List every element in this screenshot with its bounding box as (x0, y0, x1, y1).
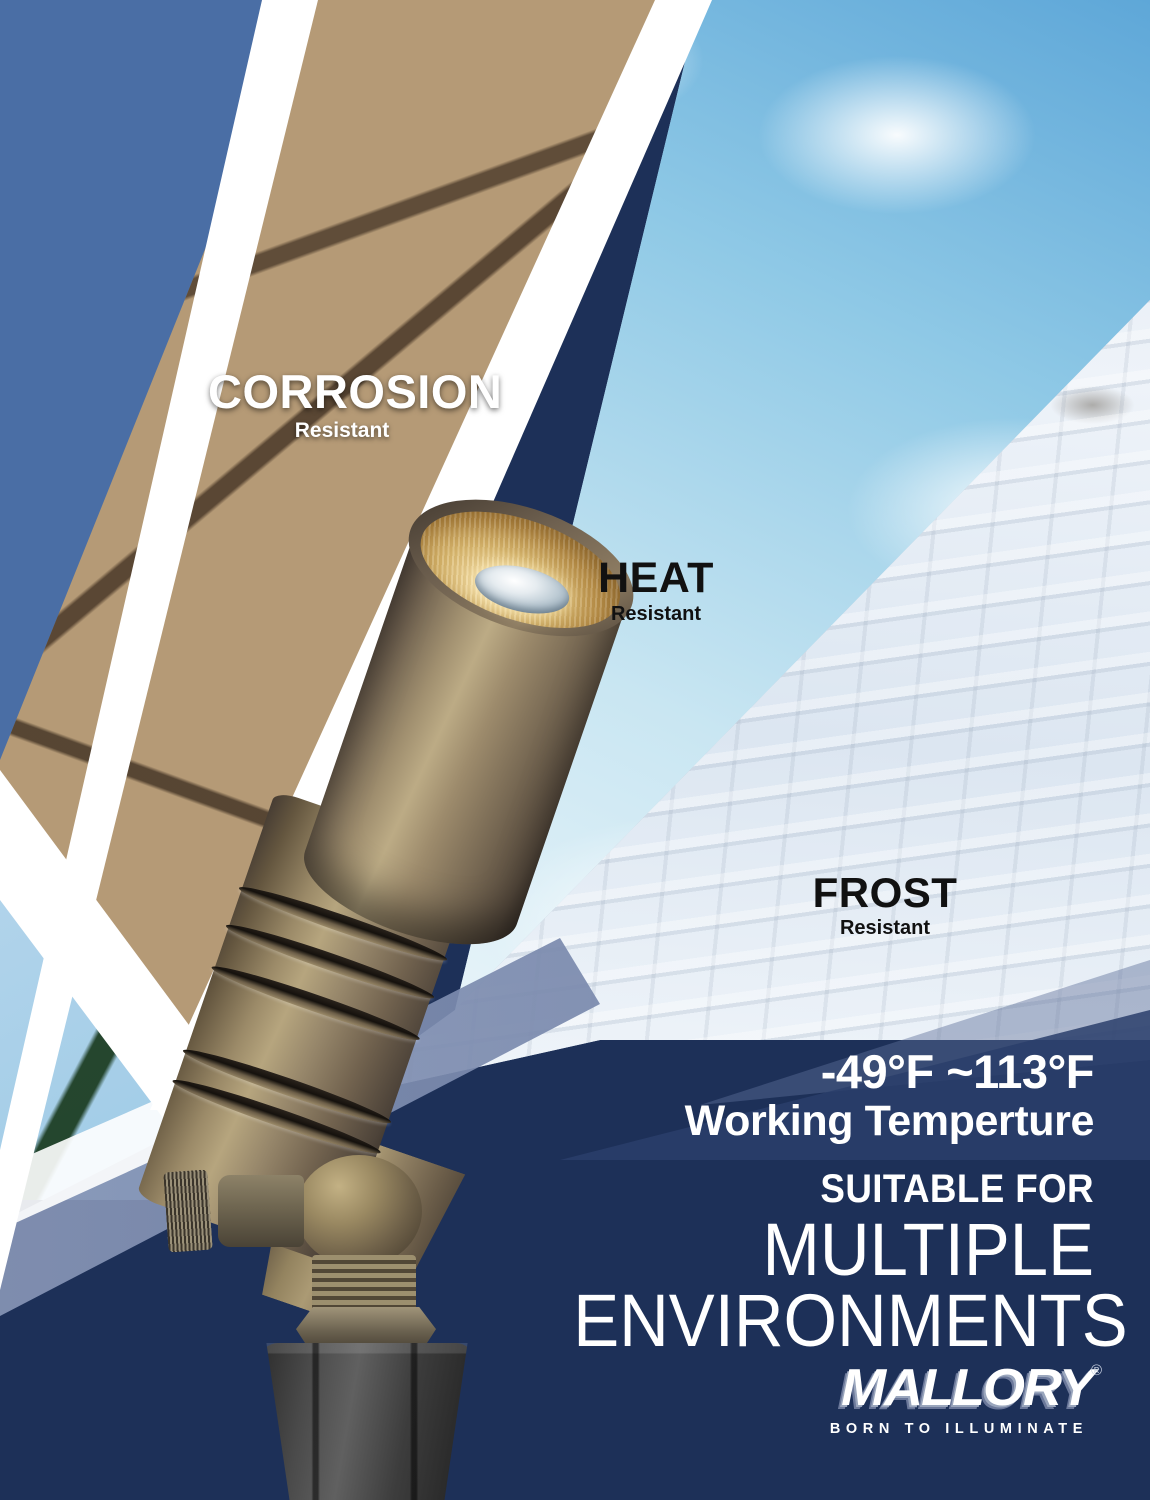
product-feature-poster: CORROSION Resistant HEAT Resistant FROST… (0, 0, 1150, 1500)
badge-frost-title: FROST (798, 872, 972, 914)
badge-frost-resistant: FROST Resistant (798, 872, 972, 938)
headline-multiple: MULTIPLE (573, 1214, 1094, 1285)
badge-corrosion-resistant: CORROSION Resistant (208, 368, 476, 441)
thumbscrew-knurling (163, 1170, 212, 1253)
badge-corrosion-title: CORROSION (208, 368, 476, 415)
brand-logo: MALLORY ® BORN TO ILLUMINATE (804, 1362, 1088, 1437)
badge-heat-resistant: HEAT Resistant (566, 557, 746, 624)
badge-frost-subtitle: Resistant (798, 918, 972, 938)
headline-suitable-for: SUITABLE FOR (579, 1167, 1094, 1212)
knuckle-joint (296, 1155, 422, 1267)
badge-heat-subtitle: Resistant (566, 604, 746, 624)
stake-ribs (260, 1343, 474, 1500)
working-temperature-label: Working Temperture (534, 1097, 1094, 1145)
marketing-copy-block: -49°F ~113°F Working Temperture SUITABLE… (534, 1048, 1094, 1356)
badge-heat-title: HEAT (566, 557, 746, 600)
body-ring-3 (209, 959, 423, 1047)
ground-stake (260, 1343, 474, 1500)
badge-corrosion-subtitle: Resistant (208, 420, 476, 441)
registered-trademark-icon: ® (1091, 1362, 1102, 1379)
thumbscrew-knob (218, 1175, 304, 1247)
brand-wordmark: MALLORY (841, 1362, 1093, 1414)
headline-environments: ENVIRONMENTS (573, 1285, 1094, 1356)
brand-tagline: BORN TO ILLUMINATE (804, 1421, 1088, 1437)
working-temperature-range: -49°F ~113°F (534, 1048, 1094, 1097)
